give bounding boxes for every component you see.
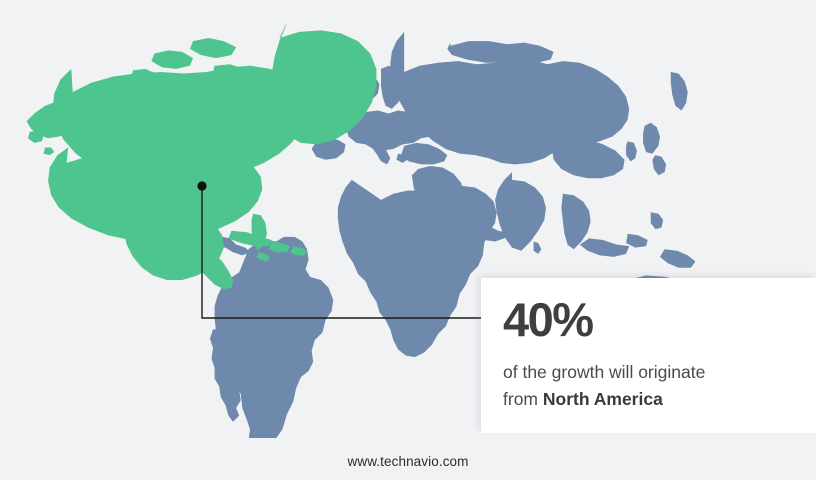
callout-description: of the growth will originate from North … bbox=[503, 359, 794, 413]
callout-percentage-value: 40% bbox=[503, 296, 794, 343]
callout-description-line2-prefix: from bbox=[503, 389, 543, 409]
footer-website-url[interactable]: www.technavio.com bbox=[0, 454, 816, 469]
infographic-canvas: 40% of the growth will originate from No… bbox=[0, 0, 816, 480]
callout-card: 40% of the growth will originate from No… bbox=[481, 278, 816, 433]
callout-region-name: North America bbox=[543, 389, 663, 409]
callout-description-line1: of the growth will originate bbox=[503, 362, 705, 382]
